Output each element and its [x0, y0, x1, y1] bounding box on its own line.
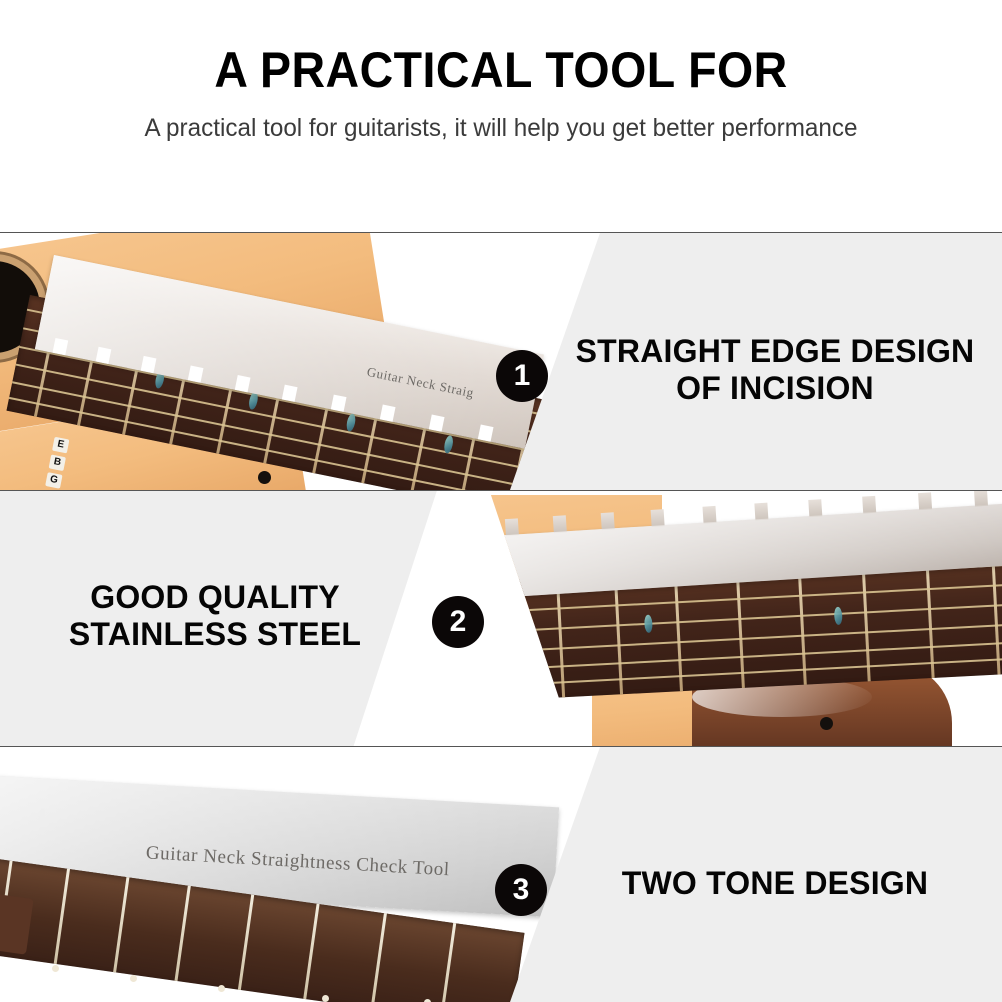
feature-badge-3: 3 [495, 864, 547, 916]
page-subtitle: A practical tool for guitarists, it will… [15, 113, 987, 143]
feature-callout-1-line1: STRAIGHT EDGE DESIGN [560, 333, 990, 370]
feature-panel-3: Guitar Neck Straightness Check Tool [0, 746, 1002, 1002]
feature-callout-2-line2: STAINLESS STEEL [20, 616, 410, 653]
string-marker: E [52, 437, 69, 454]
feature-callout-3-line1: TWO TONE DESIGN [560, 865, 990, 902]
tool-engraving-1: Guitar Neck Straig [365, 364, 475, 401]
string-marker: B [49, 454, 66, 471]
tool-engraving-3: Guitar Neck Straightness Check Tool [145, 842, 450, 881]
feature-panel-1: E B G D A E [0, 232, 1002, 490]
feature-badge-1: 1 [496, 350, 548, 402]
feature-callout-1: STRAIGHT EDGE DESIGN OF INCISION [560, 333, 990, 407]
string-marker: G [45, 472, 62, 489]
page-title: A PRACTICAL TOOL FOR [35, 44, 967, 97]
feature-callout-3: TWO TONE DESIGN [560, 865, 990, 902]
feature-callout-1-line2: OF INCISION [560, 370, 990, 407]
feature-badge-2: 2 [432, 596, 484, 648]
feature-panels: E B G D A E [0, 232, 1002, 1002]
feature-callout-2: GOOD QUALITY STAINLESS STEEL [20, 579, 410, 653]
feature-panel-2: 2 GOOD QUALITY STAINLESS STEEL [0, 490, 1002, 746]
page-header: A PRACTICAL TOOL FOR A practical tool fo… [0, 0, 1002, 143]
feature-callout-2-line1: GOOD QUALITY [20, 579, 410, 616]
